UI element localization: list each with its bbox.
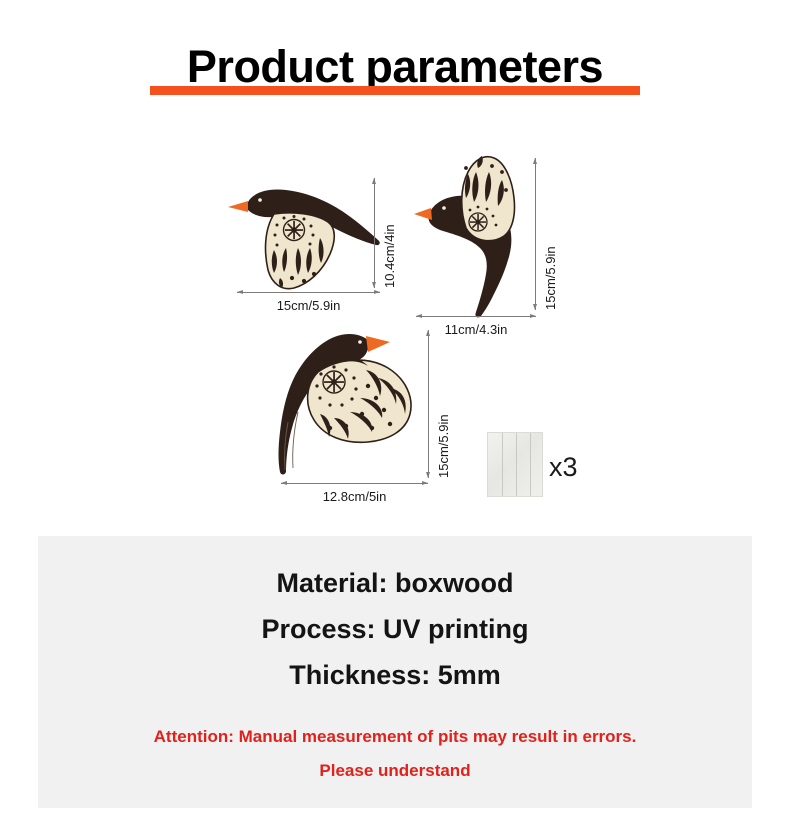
product-item-bird-fan-wing	[272, 326, 422, 476]
attention-notice-line2: Please understand	[38, 754, 752, 788]
product-item-bird-flying-left	[224, 178, 384, 293]
dimension-line-horizontal-bird1	[237, 292, 380, 293]
dimension-label-width-bird3: 12.8cm/5in	[281, 489, 428, 504]
dimension-line-horizontal-bird3	[281, 483, 428, 484]
spec-thickness: Thickness: 5mm	[38, 652, 752, 698]
spec-material: Material: boxwood	[38, 560, 752, 606]
dimension-label-height-bird2: 15cm/5.9in	[543, 246, 558, 310]
specifications-panel: Material: boxwood Process: UV printing T…	[38, 536, 752, 808]
dimension-label-height-bird3: 15cm/5.9in	[436, 414, 451, 478]
dimension-line-vertical-bird2	[535, 158, 536, 310]
product-illustration-area: 10.4cm/4in 15cm/5.9in	[0, 120, 790, 530]
dimension-line-horizontal-bird2	[416, 316, 536, 317]
attention-notice-line1: Attention: Manual measurement of pits ma…	[38, 720, 752, 754]
product-item-bird-wing-up	[414, 150, 539, 320]
spec-process: Process: UV printing	[38, 606, 752, 652]
adhesive-pad-icon	[487, 432, 543, 497]
dimension-label-width-bird2: 11cm/4.3in	[416, 322, 536, 337]
accessory-count-label: x3	[549, 452, 578, 483]
bird-wing-up-icon	[414, 150, 539, 320]
dimension-label-height-bird1: 10.4cm/4in	[382, 224, 397, 288]
dimension-line-vertical-bird3	[428, 330, 429, 478]
bird-fan-wing-icon	[272, 326, 422, 476]
bird-flying-left-icon	[224, 178, 384, 293]
dimension-line-vertical-bird1	[374, 178, 375, 288]
accessory-adhesive-pad: x3	[487, 432, 543, 497]
dimension-label-width-bird1: 15cm/5.9in	[237, 298, 380, 313]
title-underline-accent	[150, 86, 640, 95]
